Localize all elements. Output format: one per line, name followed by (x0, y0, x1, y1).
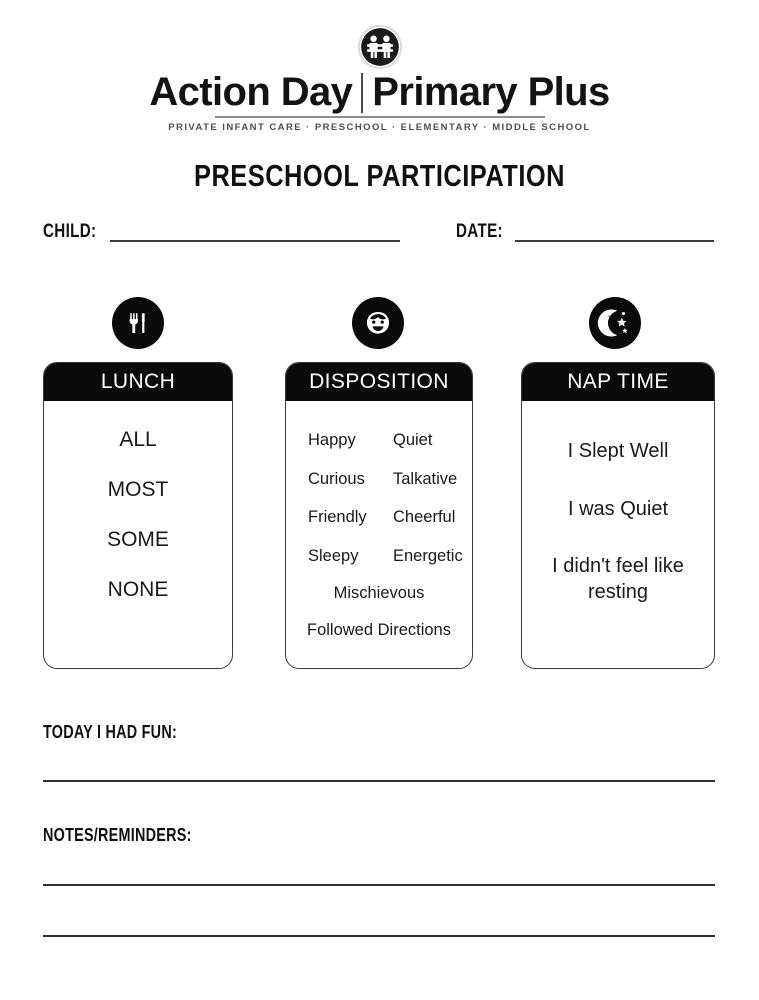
notes-input-line-1[interactable] (43, 884, 715, 886)
disposition-option-mischievous[interactable]: Mischievous (286, 575, 472, 612)
notes-reminders-label: NOTES/REMINDERS: (43, 825, 192, 846)
disposition-option-curious[interactable]: Curious (286, 460, 379, 499)
today-i-had-fun-input[interactable] (43, 780, 715, 782)
nap-time-card: NAP TIME I Slept Well I was Quiet I didn… (521, 362, 715, 669)
fork-and-knife-icon (112, 297, 164, 349)
brand-name-right: Primary Plus (363, 72, 618, 112)
identity-fields: CHILD: DATE: (43, 222, 715, 242)
nap-option-slept-well[interactable]: I Slept Well (522, 415, 714, 481)
child-field-label: CHILD: (43, 222, 96, 242)
wordmark-rule (215, 116, 545, 118)
worksheet-page: Action Day Primary Plus PRIVATE INFANT C… (0, 0, 759, 1000)
nap-time-options: I Slept Well I was Quiet I didn't feel l… (522, 401, 714, 621)
two-children-badge-icon (357, 24, 403, 70)
moon-and-stars-glyph (597, 305, 633, 341)
today-i-had-fun-label: TODAY I HAD FUN: (43, 722, 177, 743)
disposition-option-friendly[interactable]: Friendly (286, 498, 379, 537)
smiling-face-icon (352, 297, 404, 349)
date-field: DATE: (456, 222, 714, 242)
disposition-option-sleepy[interactable]: Sleepy (286, 537, 379, 576)
disposition-option-happy[interactable]: Happy (286, 421, 379, 460)
disposition-card: DISPOSITION Happy Quiet Curious Talkativ… (285, 362, 473, 669)
lunch-option-most[interactable]: MOST (44, 465, 232, 515)
date-input[interactable] (515, 224, 714, 242)
disposition-options: Happy Quiet Curious Talkative Friendly C… (286, 401, 472, 648)
child-field: CHILD: (43, 222, 400, 242)
page-title: PRESCHOOL PARTICIPATION (68, 158, 690, 194)
nap-option-was-quiet[interactable]: I was Quiet (522, 481, 714, 539)
fork-and-knife-glyph (125, 310, 151, 336)
wordmark-divider (361, 73, 363, 113)
brand-tagline: PRIVATE INFANT CARE · PRESCHOOL · ELEMEN… (0, 122, 759, 133)
disposition-grid: Happy Quiet Curious Talkative Friendly C… (286, 415, 472, 575)
lunch-option-none[interactable]: NONE (44, 565, 232, 615)
smiling-face-glyph (361, 306, 395, 340)
lunch-option-some[interactable]: SOME (44, 515, 232, 565)
disposition-option-cheerful[interactable]: Cheerful (379, 498, 472, 537)
lunch-card: LUNCH ALL MOST SOME NONE (43, 362, 233, 669)
disposition-option-talkative[interactable]: Talkative (379, 460, 472, 499)
date-field-label: DATE: (456, 222, 503, 242)
notes-input-line-2[interactable] (43, 935, 715, 937)
brand-header: Action Day Primary Plus PRIVATE INFANT C… (0, 24, 759, 133)
brand-wordmark: Action Day Primary Plus (0, 72, 759, 112)
lunch-option-all[interactable]: ALL (44, 415, 232, 465)
disposition-option-energetic[interactable]: Energetic (379, 537, 472, 576)
moon-and-stars-icon (589, 297, 641, 349)
brand-name-left: Action Day (140, 72, 361, 112)
lunch-options: ALL MOST SOME NONE (44, 401, 232, 615)
lunch-card-header: LUNCH (44, 363, 232, 401)
child-input[interactable] (110, 224, 400, 242)
disposition-option-followed-directions[interactable]: Followed Directions (286, 612, 472, 649)
nap-option-didnt-rest[interactable]: I didn't feel like resting (522, 538, 714, 621)
disposition-option-quiet[interactable]: Quiet (379, 421, 472, 460)
disposition-card-header: DISPOSITION (286, 363, 472, 401)
nap-time-card-header: NAP TIME (522, 363, 714, 401)
